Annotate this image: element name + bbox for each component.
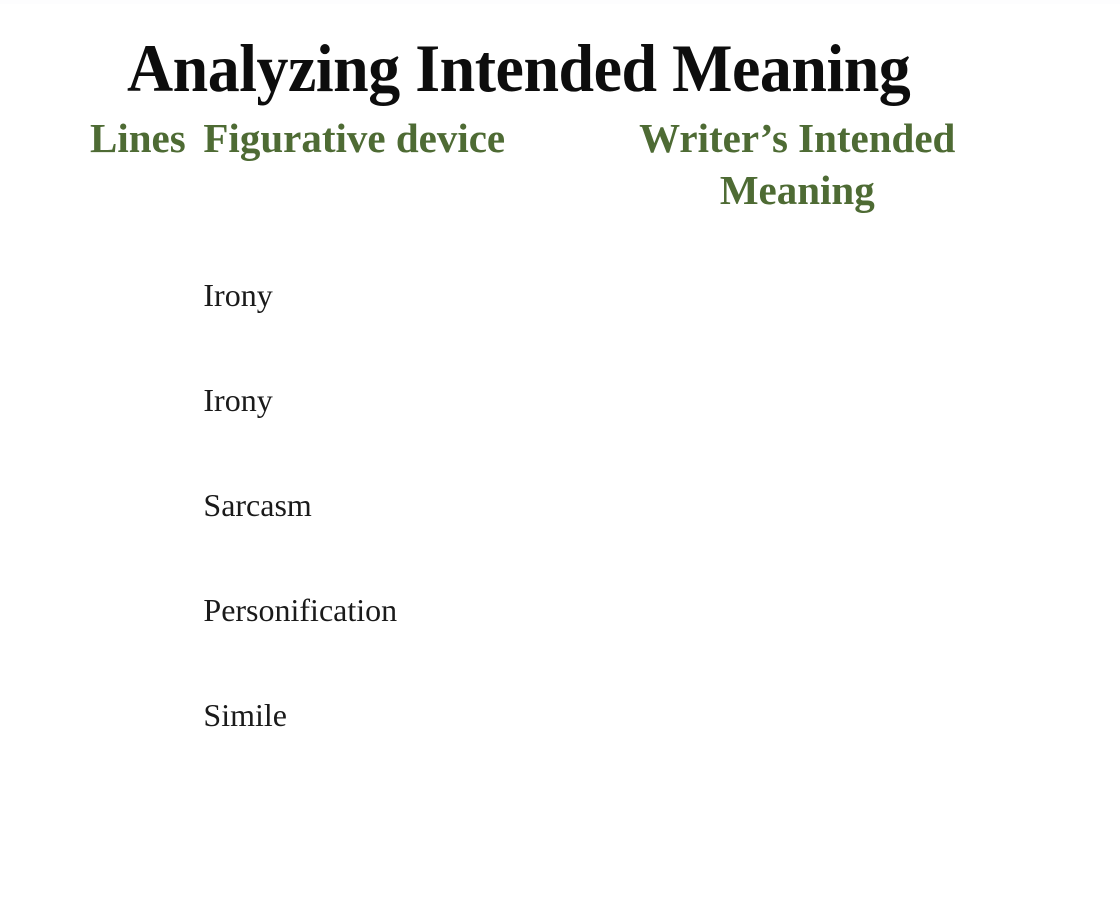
table-body: Irony Irony Sarcasm Personification [90,276,1035,801]
cell-figurative-device[interactable]: Sarcasm [203,486,541,524]
cell-figurative-device[interactable]: Irony [203,276,541,314]
column-header-writers-intended-meaning: Writer’s Intended Meaning [542,112,1035,217]
cell-figurative-device[interactable]: Irony [203,381,541,419]
table-row: Irony [90,276,1035,381]
table-row: Sarcasm [90,486,1035,591]
cell-figurative-device[interactable]: Personification [203,591,541,629]
column-header-figurative-device: Figurative device [203,112,541,164]
cell-figurative-device[interactable]: Simile [203,696,541,734]
page-title: Analyzing Intended Meaning [34,32,1087,104]
analysis-table: Lines Figurative device Writer’s Intende… [90,112,1035,801]
slide-canvas: Analyzing Intended Meaning Lines Figurat… [0,0,1120,904]
table-row: Simile [90,696,1035,801]
table-header-row: Lines Figurative device Writer’s Intende… [90,112,1035,217]
table-row: Personification [90,591,1035,696]
table-row: Irony [90,381,1035,486]
column-header-lines: Lines [90,112,203,164]
